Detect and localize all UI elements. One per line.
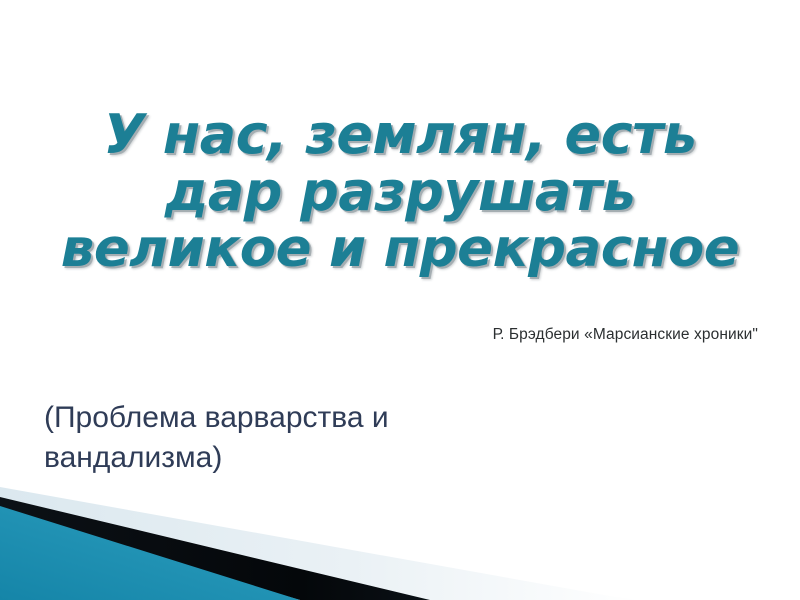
slide-canvas: У нас, землян, есть дар разрушать велико… xyxy=(0,0,800,600)
subtitle-line-1: (Проблема варварства и xyxy=(44,398,564,438)
quote-attribution: Р. Брэдбери «Марсианские хроники" xyxy=(493,326,758,344)
slide-subtitle: (Проблема варварства и вандализма) xyxy=(44,398,564,478)
subtitle-line-2: вандализма) xyxy=(44,438,564,478)
decor-dark-stripe xyxy=(0,497,430,600)
decor-teal-wedge xyxy=(0,506,300,600)
title-line-1: У нас, землян, есть xyxy=(0,108,800,162)
title-line-3: великое и прекрасное xyxy=(0,222,800,275)
decor-pale-band xyxy=(0,487,640,600)
slide-title: У нас, землян, есть дар разрушать велико… xyxy=(0,108,800,275)
bottom-left-diagonal-banner xyxy=(0,485,800,600)
title-line-2: дар разрушать xyxy=(0,165,800,219)
